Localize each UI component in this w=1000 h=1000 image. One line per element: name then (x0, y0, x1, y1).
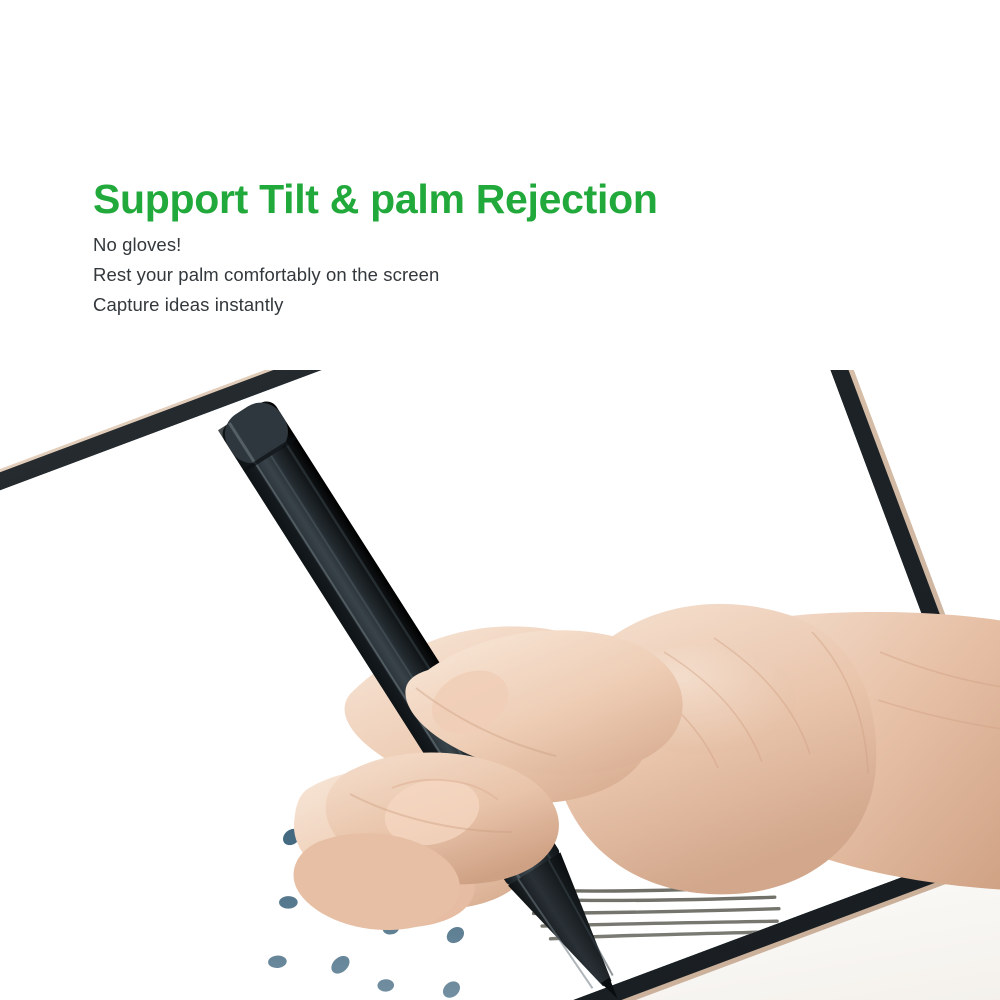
subtitle-list: No gloves! Rest your palm comfortably on… (93, 230, 853, 320)
page-title: Support Tilt & palm Rejection (93, 176, 853, 222)
subtitle-line-3: Capture ideas instantly (93, 290, 853, 320)
hand-fingers-foreground (0, 370, 1000, 1000)
subtitle-line-2: Rest your palm comfortably on the screen (93, 260, 853, 290)
product-photo (0, 370, 1000, 1000)
product-feature-banner: Support Tilt & palm Rejection No gloves!… (0, 0, 1000, 1000)
copy-block: Support Tilt & palm Rejection No gloves!… (93, 176, 853, 320)
subtitle-line-1: No gloves! (93, 230, 853, 260)
